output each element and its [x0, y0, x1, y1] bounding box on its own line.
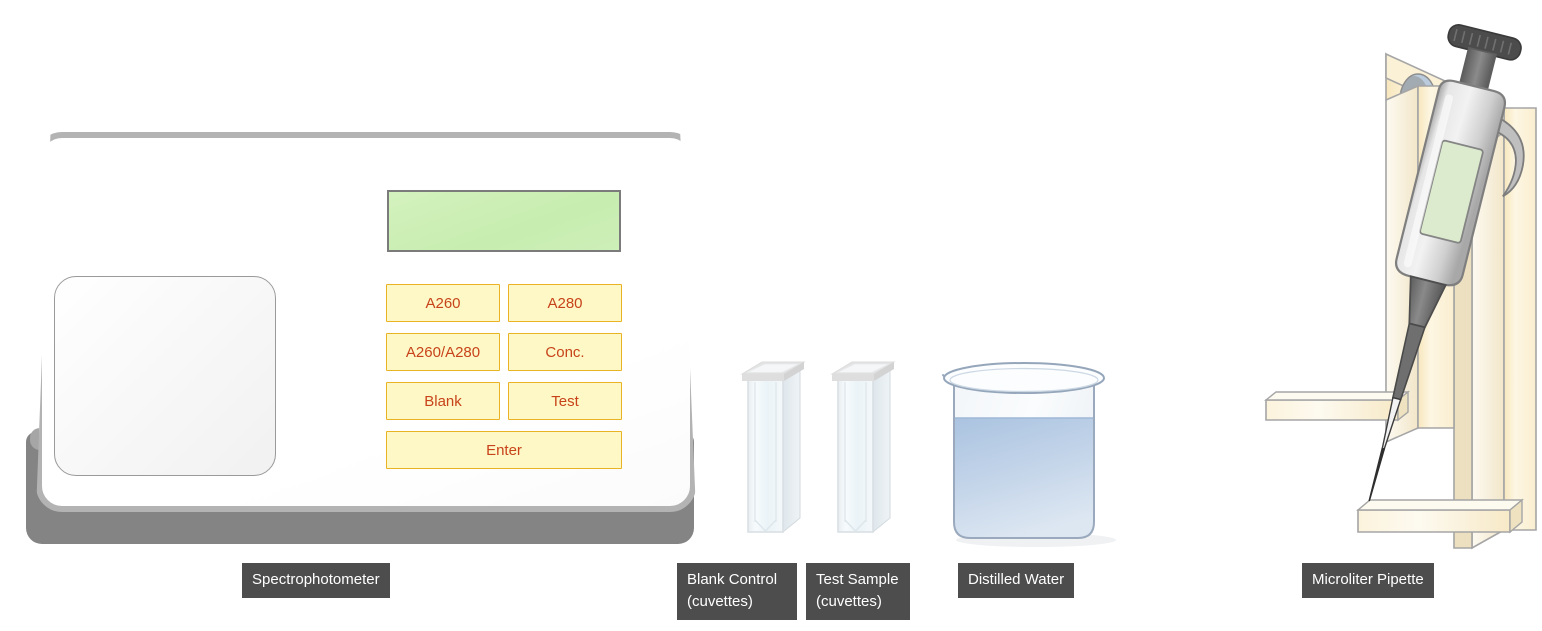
caption-microliter-pipette: Microliter Pipette — [1302, 563, 1434, 598]
keypad: A260 A280 A260/A280 Conc. Blank Test Ent… — [386, 284, 622, 470]
key-enter[interactable]: Enter — [386, 431, 622, 469]
beaker-graphic — [936, 362, 1116, 547]
caption-distilled-water: Distilled Water — [958, 563, 1074, 598]
microliter-pipette-on-stand[interactable] — [1258, 8, 1542, 560]
key-a260[interactable]: A260 — [386, 284, 500, 322]
cuvette-graphic — [738, 360, 806, 550]
distilled-water-beaker[interactable] — [936, 362, 1116, 547]
sample-compartment-lid[interactable] — [54, 276, 276, 476]
cuvette-graphic — [828, 360, 896, 550]
pipette-graphic — [1258, 8, 1542, 560]
caption-spectrophotometer: Spectrophotometer — [242, 563, 390, 598]
key-test[interactable]: Test — [508, 382, 622, 420]
blank-control-cuvette[interactable] — [738, 360, 806, 550]
test-sample-cuvette[interactable] — [828, 360, 896, 550]
key-a280[interactable]: A280 — [508, 284, 622, 322]
key-conc[interactable]: Conc. — [508, 333, 622, 371]
lab-bench-scene: A260 A280 A260/A280 Conc. Blank Test Ent… — [0, 0, 1542, 631]
lcd-display — [387, 190, 621, 252]
key-a260-a280[interactable]: A260/A280 — [386, 333, 500, 371]
caption-test-sample: Test Sample (cuvettes) — [806, 563, 910, 620]
caption-blank-control: Blank Control (cuvettes) — [677, 563, 797, 620]
key-blank[interactable]: Blank — [386, 382, 500, 420]
spectrophotometer[interactable]: A260 A280 A260/A280 Conc. Blank Test Ent… — [18, 132, 708, 552]
